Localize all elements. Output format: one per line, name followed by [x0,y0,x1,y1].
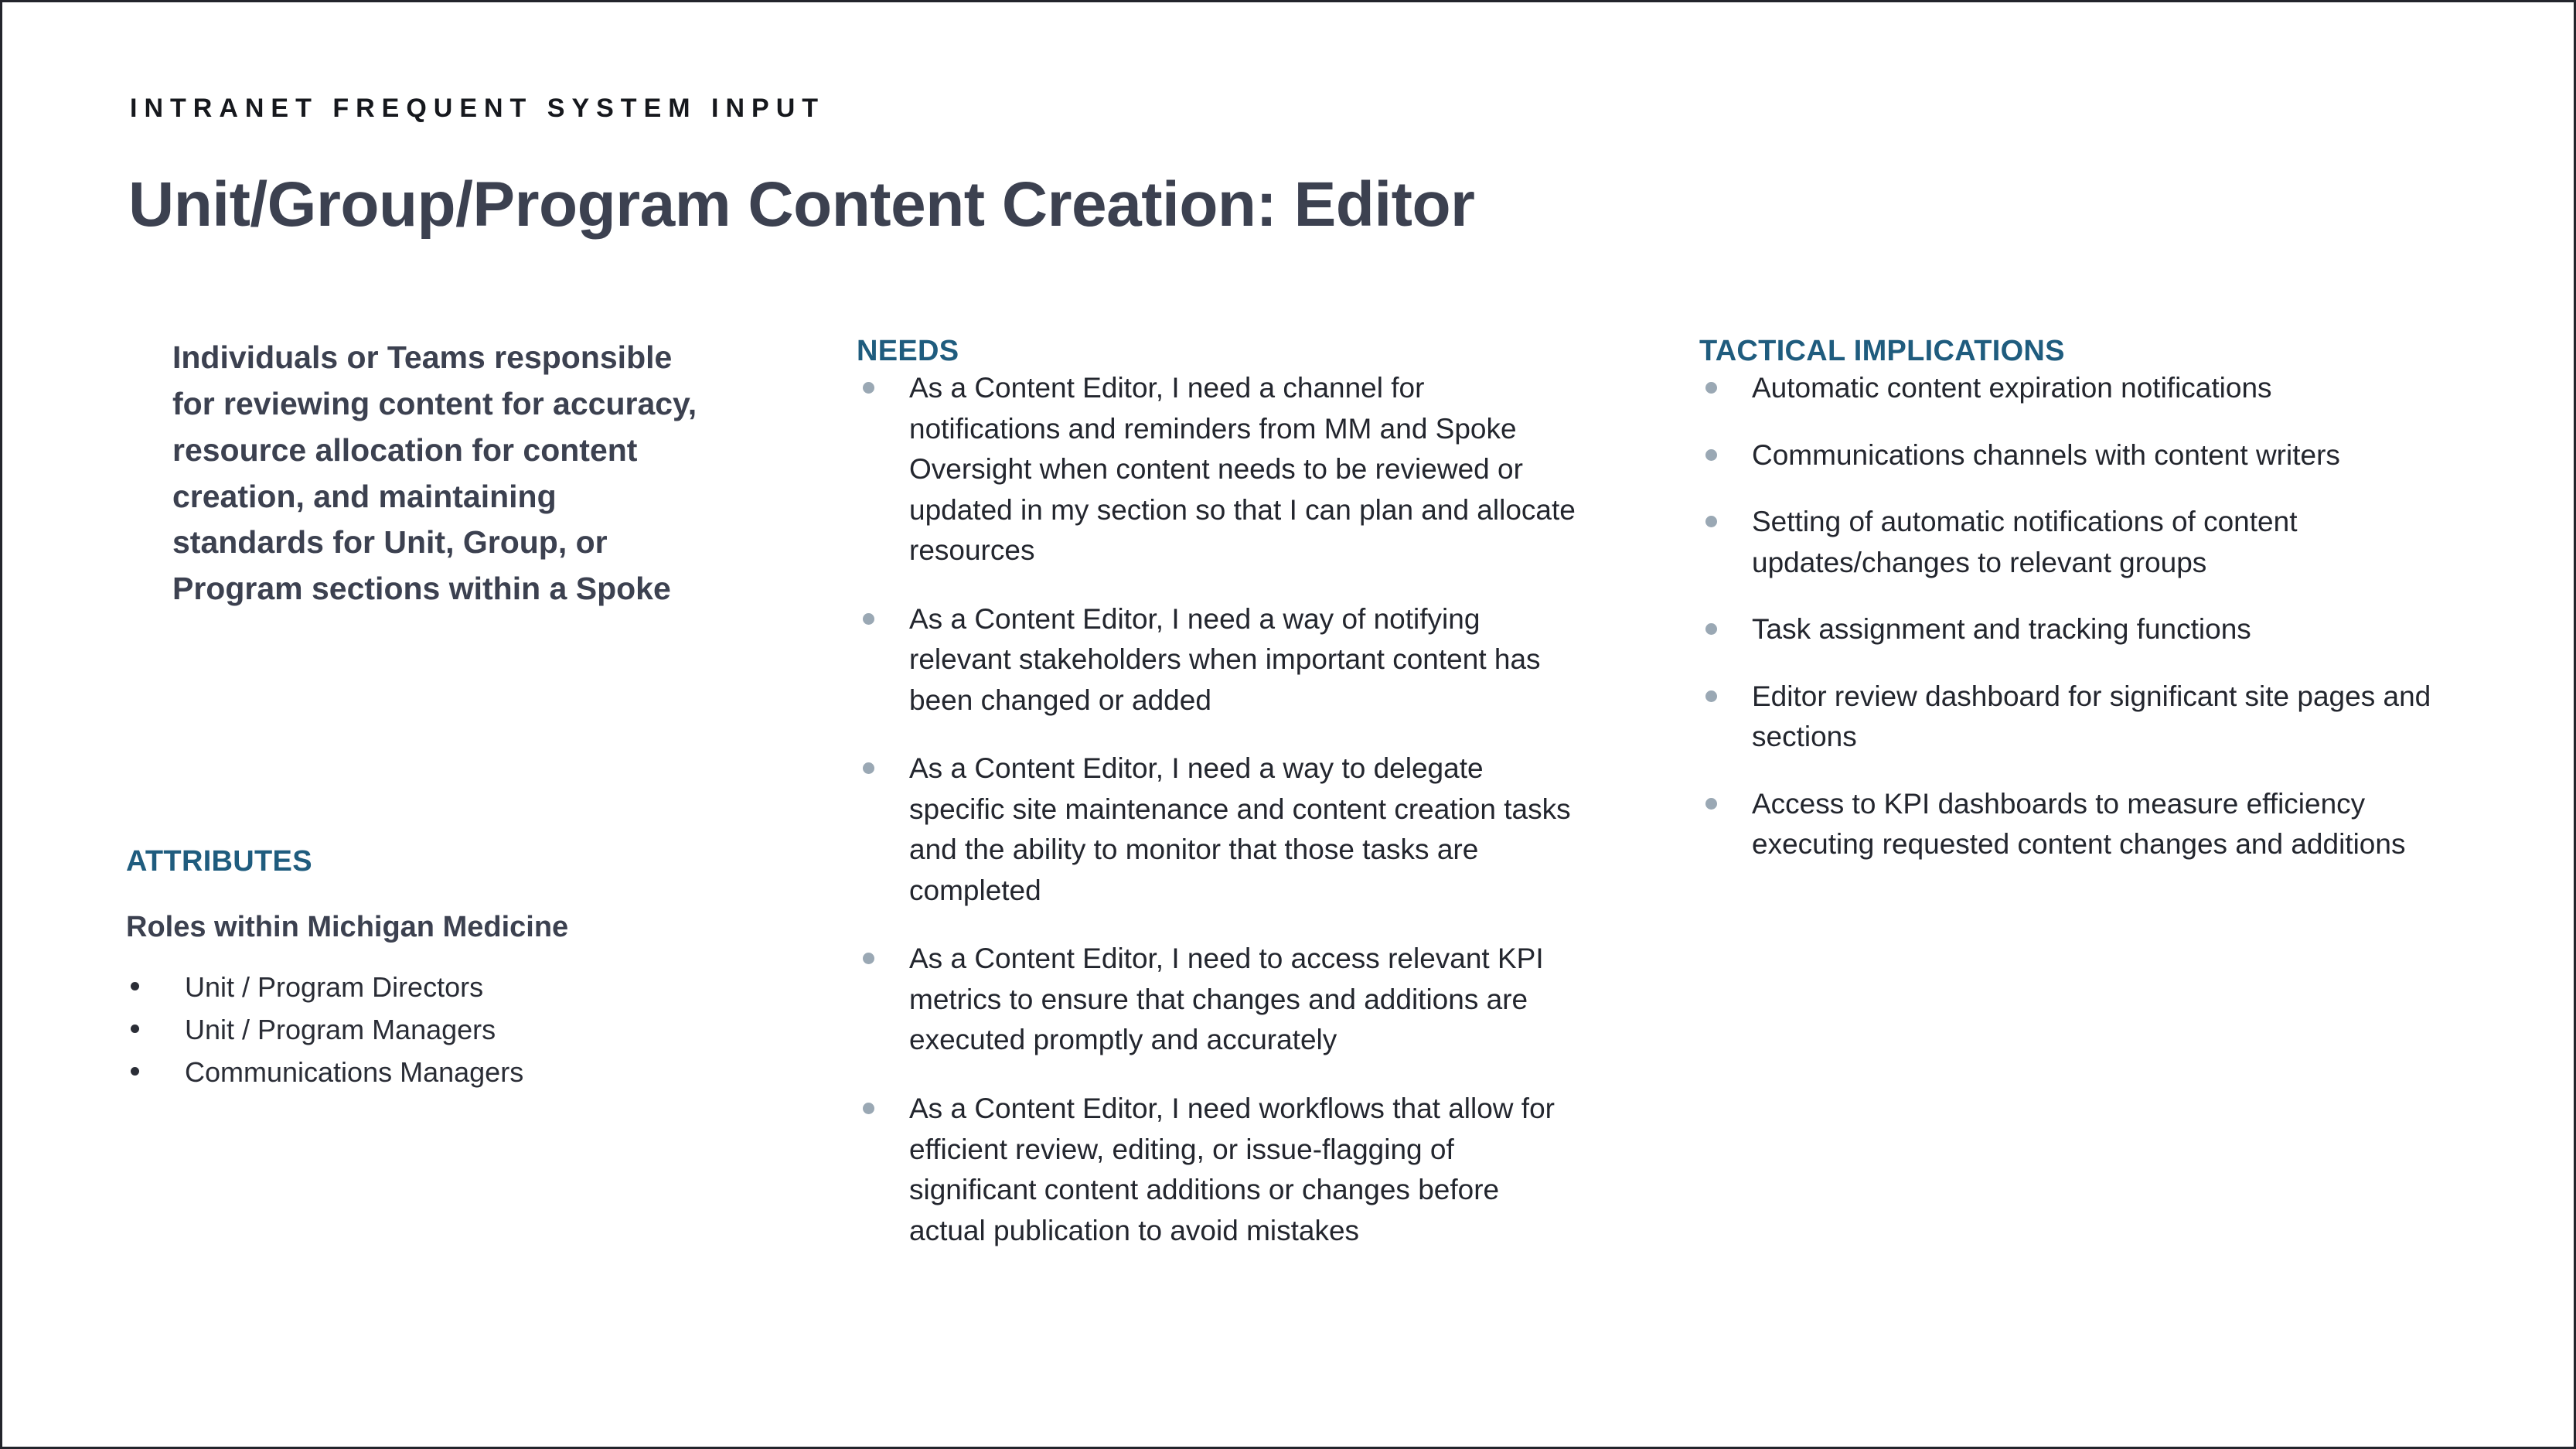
list-item-label: Unit / Program Managers [185,1014,496,1045]
list-item-label: Access to KPI dashboards to measure effi… [1752,788,2405,861]
list-item: Task assignment and tracking functions [1699,609,2480,650]
list-item-label: As a Content Editor, I need workflows th… [909,1093,1555,1246]
list-item: Access to KPI dashboards to measure effi… [1699,784,2480,865]
list-item-label: Setting of automatic notifications of co… [1752,506,2297,578]
list-item: As a Content Editor, I need a way to del… [857,748,1579,911]
list-item-label: Task assignment and tracking functions [1752,613,2251,645]
bullet-icon [1705,516,1717,527]
list-item-label: Unit / Program Directors [185,971,483,1003]
roles-list: Unit / Program Directors Unit / Program … [126,969,667,1096]
bullet-icon [131,982,139,990]
list-item: As a Content Editor, I need a channel fo… [857,368,1579,571]
tactical-implications-list: Automatic content expiration notificatio… [1699,368,2480,865]
list-item: As a Content Editor, I need a way of not… [857,599,1579,721]
list-item: Unit / Program Managers [126,1011,667,1049]
attributes-subheading: Roles within Michigan Medicine [126,911,568,944]
bullet-icon [863,382,874,394]
persona-description: Individuals or Teams responsible for rev… [172,335,714,612]
list-item: Unit / Program Directors [126,969,667,1007]
list-item: As a Content Editor, I need to access re… [857,939,1579,1061]
needs-column: NEEDS As a Content Editor, I need a chan… [857,335,1579,1251]
page-title: Unit/Group/Program Content Creation: Edi… [128,169,1474,241]
list-item: Automatic content expiration notificatio… [1699,368,2480,409]
left-column: Individuals or Teams responsible for rev… [126,335,714,612]
needs-heading: NEEDS [857,335,1579,368]
bullet-icon [863,1103,874,1114]
list-item-label: As a Content Editor, I need to access re… [909,943,1544,1055]
bullet-icon [1705,623,1717,635]
bullet-icon [1705,690,1717,702]
bullet-icon [131,1025,139,1033]
list-item: As a Content Editor, I need workflows th… [857,1089,1579,1251]
slide-canvas: INTRANET FREQUENT SYSTEM INPUT Unit/Grou… [0,0,2576,1449]
list-item: Communications channels with content wri… [1699,435,2480,476]
bullet-icon [131,1067,139,1076]
list-item-label: As a Content Editor, I need a channel fo… [909,372,1576,566]
list-item-label: As a Content Editor, I need a way to del… [909,752,1571,906]
list-item: Setting of automatic notifications of co… [1699,502,2480,583]
bullet-icon [1705,382,1717,394]
tactical-implications-column: TACTICAL IMPLICATIONS Automatic content … [1699,335,2480,865]
attributes-heading: ATTRIBUTES [126,845,312,878]
tactical-implications-heading: TACTICAL IMPLICATIONS [1699,335,2480,368]
list-item-label: Editor review dashboard for significant … [1752,680,2431,753]
needs-list: As a Content Editor, I need a channel fo… [857,368,1579,1251]
list-item-label: As a Content Editor, I need a way of not… [909,603,1541,716]
bullet-icon [863,613,874,625]
bullet-icon [1705,449,1717,461]
list-item: Communications Managers [126,1054,667,1092]
list-item-label: Communications Managers [185,1056,523,1088]
eyebrow-label: INTRANET FREQUENT SYSTEM INPUT [130,94,825,124]
list-item: Editor review dashboard for significant … [1699,677,2480,758]
bullet-icon [863,953,874,964]
list-item-label: Communications channels with content wri… [1752,439,2340,471]
bullet-icon [1705,798,1717,810]
bullet-icon [863,762,874,774]
list-item-label: Automatic content expiration notificatio… [1752,372,2272,404]
